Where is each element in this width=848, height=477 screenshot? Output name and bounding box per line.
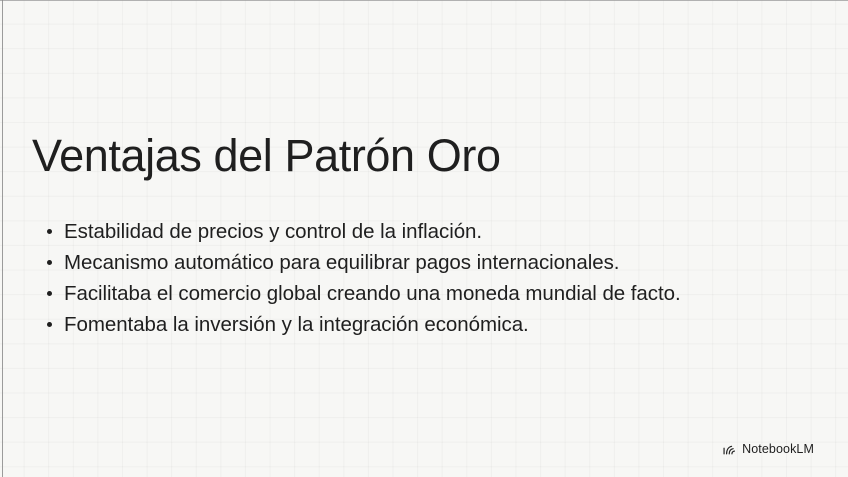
notebooklm-branding: NotebookLM bbox=[722, 442, 814, 457]
slide-left-border bbox=[2, 0, 3, 477]
notebooklm-spiral-icon bbox=[722, 442, 737, 457]
bullet-dot-icon bbox=[47, 291, 52, 296]
bullet-dot-icon bbox=[47, 322, 52, 327]
bullet-dot-icon bbox=[47, 260, 52, 265]
slide-title: Ventajas del Patrón Oro bbox=[32, 129, 501, 183]
list-item-label: Mecanismo automático para equilibrar pag… bbox=[64, 251, 619, 274]
slide-top-border bbox=[0, 0, 848, 1]
list-item: Facilitaba el comercio global creando un… bbox=[44, 281, 681, 306]
list-item-label: Fomentaba la inversión y la integración … bbox=[64, 313, 529, 336]
notebooklm-wordmark: NotebookLM bbox=[742, 442, 814, 457]
list-item: Fomentaba la inversión y la integración … bbox=[44, 312, 681, 337]
list-item: Estabilidad de precios y control de la i… bbox=[44, 219, 681, 244]
bullet-list: Estabilidad de precios y control de la i… bbox=[44, 219, 681, 337]
list-item: Mecanismo automático para equilibrar pag… bbox=[44, 250, 681, 275]
slide-canvas: Ventajas del Patrón Oro Estabilidad de p… bbox=[0, 0, 848, 477]
bullet-dot-icon bbox=[47, 229, 52, 234]
list-item-label: Estabilidad de precios y control de la i… bbox=[64, 220, 482, 243]
list-item-label: Facilitaba el comercio global creando un… bbox=[64, 282, 681, 305]
